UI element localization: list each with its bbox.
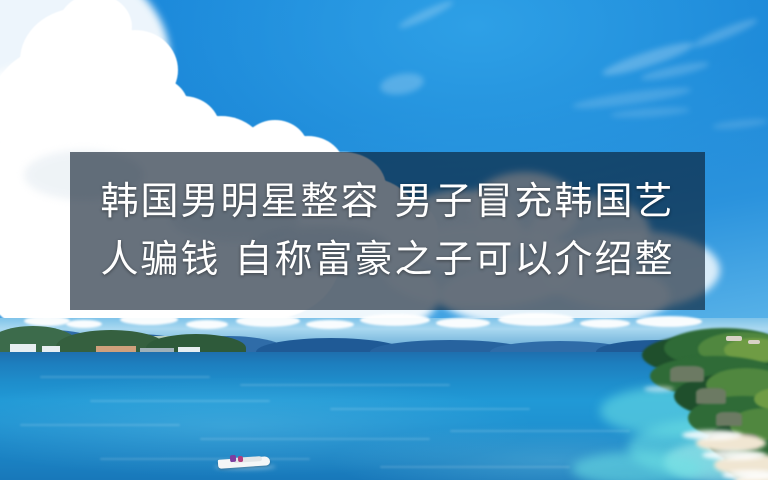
sea-ripple bbox=[380, 466, 570, 468]
horizon-cloud bbox=[66, 320, 102, 328]
horizon-cloud bbox=[360, 314, 430, 326]
sea-ripple bbox=[100, 458, 310, 460]
horizon-cloud bbox=[236, 315, 300, 327]
horizon-cloud bbox=[24, 316, 70, 326]
horizon-cloud bbox=[186, 320, 228, 329]
sea-ripple bbox=[20, 424, 180, 426]
boat-passenger bbox=[230, 455, 236, 462]
horizon-cloud bbox=[636, 316, 702, 327]
horizon-cloud bbox=[580, 319, 630, 328]
headland bbox=[578, 330, 768, 480]
sea-ripple bbox=[40, 376, 210, 378]
horizon-cloud bbox=[306, 320, 354, 329]
thumbnail-image: 韩国男明星整容 男子冒充韩国艺 人骗钱 自称富豪之子可以介绍整 bbox=[0, 0, 768, 480]
horizon-cloud bbox=[120, 314, 178, 325]
headline-line-1: 韩国男明星整容 男子冒充韩国艺 bbox=[100, 173, 674, 231]
building bbox=[10, 344, 36, 352]
horizon-cloud bbox=[498, 313, 574, 326]
headline-line-2: 人骗钱 自称富豪之子可以介绍整 bbox=[100, 231, 674, 289]
sea-ripple bbox=[330, 408, 530, 410]
horizon-cloud bbox=[436, 318, 490, 328]
boat bbox=[218, 452, 272, 470]
headline-overlay: 韩国男明星整容 男子冒充韩国艺 人骗钱 自称富豪之子可以介绍整 bbox=[70, 152, 705, 310]
sea-ripple bbox=[240, 384, 450, 386]
sea-ripple bbox=[200, 438, 430, 440]
boat-passenger bbox=[238, 456, 243, 462]
sea-ripple bbox=[90, 400, 270, 402]
